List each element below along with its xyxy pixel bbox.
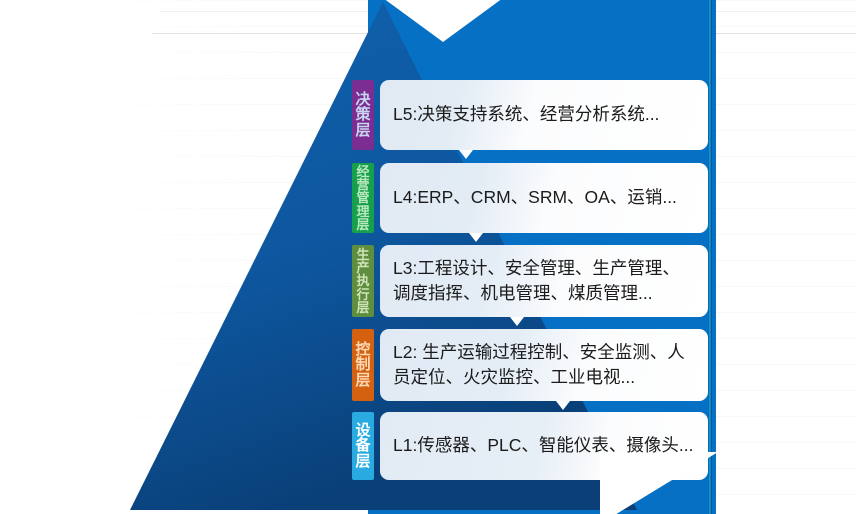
layer-row-L2[interactable]: 控 制 层 L2: 生产运输过程控制、安全监测、人员定位、火灾监控、工业电视..… [352,329,708,401]
layer-tab-char: 设 [355,423,370,438]
diagram-canvas: 决 策 层 L5:决策支持系统、经营分析系统... 经 营 管 理 层 L4:E… [0,0,856,514]
layer-row-L5[interactable]: 决 策 层 L5:决策支持系统、经营分析系统... [352,80,708,150]
layer-card-L3[interactable]: L3:工程设计、安全管理、生产管理、调度指挥、机电管理、煤质管理... [380,245,708,317]
layer-tab-char: 层 [355,454,370,469]
layer-tab-L3[interactable]: 生 产 执 行 层 [352,245,374,317]
panel-top-notch [383,0,503,42]
layer-separator-arrow-4 [556,401,570,410]
layer-card-L2[interactable]: L2: 生产运输过程控制、安全监测、人员定位、火灾监控、工业电视... [380,329,708,401]
layer-tab-char: 产 [356,261,369,274]
layer-card-text-L5: L5:决策支持系统、经营分析系统... [393,102,659,127]
layer-card-L4[interactable]: L4:ERP、CRM、SRM、OA、运销... [380,163,708,233]
layer-tab-char: 备 [355,438,370,453]
layer-row-L4[interactable]: 经 营 管 理 层 L4:ERP、CRM、SRM、OA、运销... [352,163,708,233]
panel-bottom-notch [600,452,718,514]
layer-tab-char: 决 [355,92,370,107]
layer-tab-char: 生 [356,248,369,261]
layer-tab-char: 行 [356,288,369,301]
layer-tab-char: 营 [356,178,369,191]
layer-tab-char: 层 [355,373,370,388]
layer-tab-char: 策 [355,107,370,122]
layer-tab-char: 管 [356,191,369,204]
layer-card-text-L1: L1:传感器、PLC、智能仪表、摄像头... [393,433,693,458]
layer-tab-L4[interactable]: 经 营 管 理 层 [352,163,374,233]
layer-separator-arrow-2 [469,233,483,242]
layer-tab-L5[interactable]: 决 策 层 [352,80,374,150]
layer-tab-char: 理 [356,205,369,218]
layer-tab-char: 层 [355,123,370,138]
layer-tab-char: 执 [356,274,369,287]
layer-separator-arrow-1 [459,150,473,159]
layer-tab-char: 控 [355,342,370,357]
layer-separator-arrow-3 [510,317,524,326]
layer-card-L5[interactable]: L5:决策支持系统、经营分析系统... [380,80,708,150]
layer-tab-L2[interactable]: 控 制 层 [352,329,374,401]
layer-tab-char: 层 [356,218,369,231]
layer-card-text-L3: L3:工程设计、安全管理、生产管理、调度指挥、机电管理、煤质管理... [393,256,695,307]
layer-tab-L1[interactable]: 设 备 层 [352,412,374,480]
layer-tab-char: 制 [355,357,370,372]
layer-tab-char: 层 [356,301,369,314]
layer-card-text-L4: L4:ERP、CRM、SRM、OA、运销... [393,185,677,210]
layer-card-text-L2: L2: 生产运输过程控制、安全监测、人员定位、火灾监控、工业电视... [393,340,695,391]
layer-row-L3[interactable]: 生 产 执 行 层 L3:工程设计、安全管理、生产管理、调度指挥、机电管理、煤质… [352,245,708,317]
layer-tab-char: 经 [356,165,369,178]
blue-panel-right-edge [708,0,712,514]
